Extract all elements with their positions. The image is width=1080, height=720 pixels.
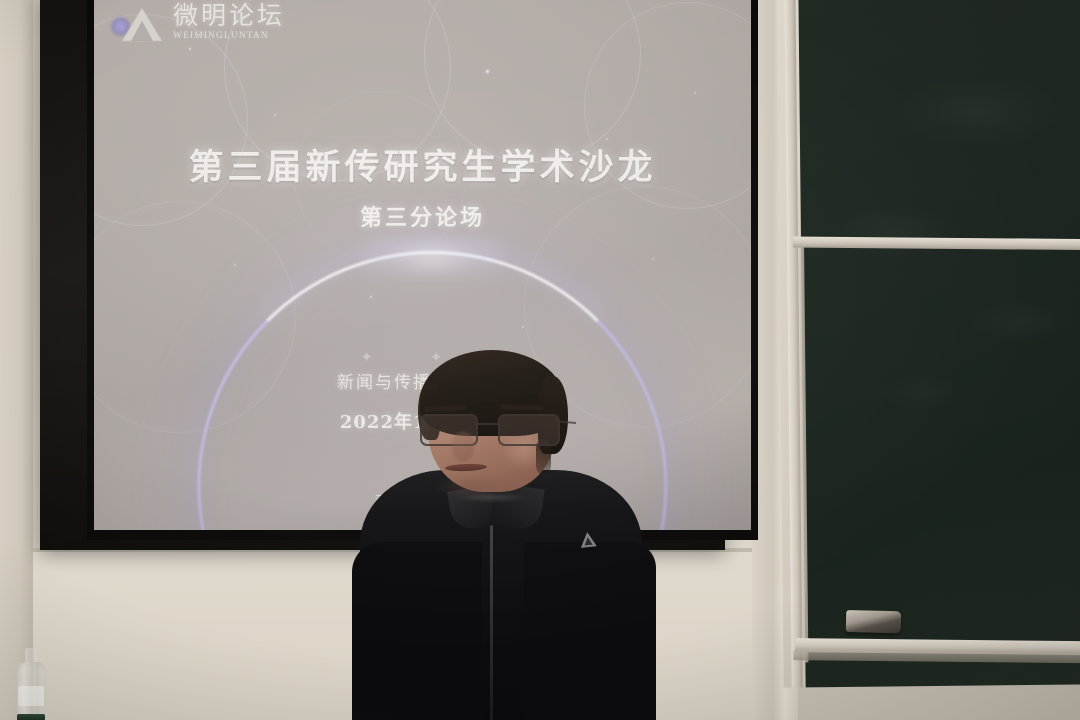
- glasses-bridge: [474, 423, 498, 425]
- slide-ring-decoration: [94, 201, 296, 433]
- slide-star: [522, 326, 524, 328]
- speaker-nose: [452, 432, 474, 462]
- lecture-room-photo: 微明论坛 WEIMINGLUNTAN 第三届新传研究生学术沙龙 第三分论场 ✦ …: [0, 0, 1080, 720]
- slide-ring-decoration: [94, 14, 248, 226]
- speaker-chin-shadow: [432, 476, 510, 498]
- blackboard: [776, 0, 1080, 688]
- slide-logo-text: 微明论坛 WEIMINGLUNTAN: [173, 3, 285, 42]
- bottle-cap: [17, 714, 45, 720]
- slide-logo: 微明论坛 WEIMINGLUNTAN: [112, 2, 285, 42]
- speaker-person: [352, 352, 652, 720]
- speaker-jacket-right: [524, 542, 656, 720]
- slide-star: [234, 264, 236, 266]
- jacket-sleeve-badge-icon: [579, 531, 597, 548]
- slide-logo-pinyin: WEIMINGLUNTAN: [173, 32, 285, 42]
- water-bottle-icon: [14, 648, 48, 720]
- slide-subtitle: 第三分论场: [94, 200, 751, 232]
- mountain-inner-icon: [131, 21, 153, 41]
- slide-star: [652, 258, 654, 260]
- glasses-lens-right: [498, 414, 560, 446]
- slide-star: [486, 70, 489, 73]
- slide-star: [694, 92, 696, 94]
- slide-star: [189, 48, 191, 50]
- blackboard-surface: [798, 0, 1080, 687]
- wall-left-pillar: [0, 0, 33, 720]
- slide-star: [274, 114, 276, 116]
- slide-star: [370, 296, 372, 298]
- jacket-zipper: [490, 502, 493, 720]
- bottle-label: [18, 686, 44, 706]
- chalk-eraser-icon: [846, 610, 902, 633]
- speaker-glasses-icon: [412, 414, 564, 444]
- blackboard-chalk-smudge: [798, 0, 1080, 687]
- speaker-jacket-left: [352, 542, 482, 720]
- slide-logo-chinese: 微明论坛: [173, 3, 285, 28]
- mountain-sunrise-icon: [112, 2, 164, 42]
- slide-title: 第三届新传研究生学术沙龙: [94, 139, 751, 190]
